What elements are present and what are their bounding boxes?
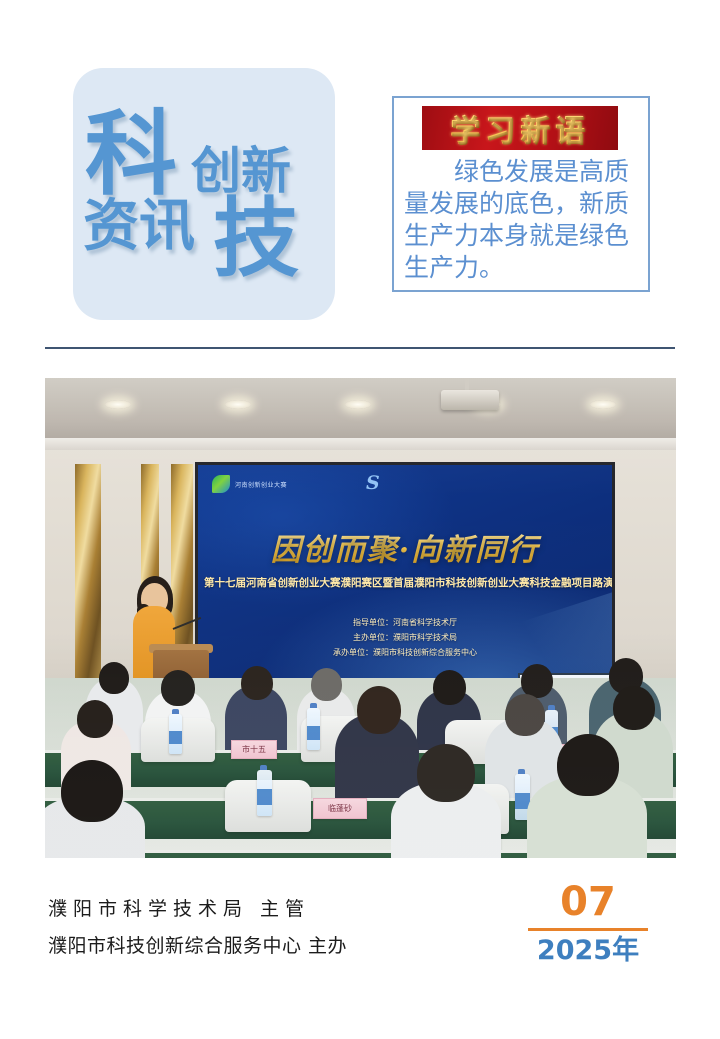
screen-org-organizer: 承办单位：濮阳市科技创新综合服务中心 — [198, 645, 612, 660]
attendee-head — [557, 734, 619, 796]
attendee-head — [613, 686, 655, 730]
attendee-head — [77, 700, 113, 738]
ceiling-light — [225, 400, 251, 409]
masthead-divider — [45, 347, 675, 349]
attendee-head — [241, 666, 273, 700]
attendee-head — [433, 670, 466, 705]
logo-glyph-zixun: 资讯 — [83, 198, 195, 254]
attendee-head — [505, 694, 545, 736]
logo-artwork: 科 创新 资讯 技 — [73, 68, 335, 320]
screen-title: 因创而聚·向新同行 — [198, 525, 612, 569]
ceiling-light — [590, 400, 616, 409]
screen-org-host: 主办单位：濮阳市科学技术局 — [198, 630, 612, 645]
issue-year: 2025年 — [528, 935, 648, 967]
attendee-head — [161, 670, 195, 706]
quote-text: 绿色发展是高质量发展的底色，新质生产力本身就是绿色生产力。 — [404, 156, 640, 284]
footer: 濮阳市科学技术局 主管 濮阳市科技创新综合服务中心 主办 07 2025年 — [0, 880, 720, 1000]
issue-number: 07 — [528, 880, 648, 924]
quote-banner: 学习新语 — [422, 106, 618, 150]
attendee-head — [61, 760, 123, 822]
ceiling-light — [105, 400, 131, 409]
screen-subtitle: 第十七届河南省创新创业大赛濮阳赛区暨首届濮阳市科技创新创业大赛科技金融项目路演活… — [204, 575, 606, 590]
water-bottle — [307, 708, 320, 750]
water-bottle — [257, 770, 272, 816]
attendee-head — [357, 686, 401, 734]
footer-credits: 濮阳市科学技术局 主管 濮阳市科技创新综合服务中心 主办 — [48, 894, 347, 958]
screen-logo-text: 河南创新创业大赛 — [235, 480, 287, 489]
magazine-cover-page: 科 创新 资讯 技 学习新语 绿色发展是高质量发展的底色，新质生产力本身就是绿色… — [0, 0, 720, 1039]
table-name-card: 市十五 — [231, 740, 277, 759]
ceiling-projector — [441, 390, 499, 410]
logo-glyph-ke: 科 — [85, 108, 175, 200]
quote-box: 学习新语 绿色发展是高质量发展的底色，新质生产力本身就是绿色生产力。 — [392, 96, 650, 292]
footer-organizer: 濮阳市科技创新综合服务中心 主办 — [48, 931, 347, 958]
attendee-head — [99, 662, 129, 694]
decorative-column — [75, 464, 101, 714]
screen-organizers: 指导单位：河南省科学技术厅 主办单位：濮阳市科学技术局 承办单位：濮阳市科技创新… — [198, 615, 612, 660]
issue-divider — [528, 928, 648, 931]
cover-photo: 河南创新创业大赛 S 因创而聚·向新同行 第十七届河南省创新创业大赛濮阳赛区暨首… — [45, 378, 676, 858]
issue-block: 07 2025年 — [528, 880, 648, 967]
screen-org-guide: 指导单位：河南省科学技术厅 — [198, 615, 612, 630]
masthead: 科 创新 资讯 技 学习新语 绿色发展是高质量发展的底色，新质生产力本身就是绿色… — [0, 0, 720, 348]
attendee-head — [521, 664, 553, 698]
leaf-icon — [212, 475, 230, 493]
attendee-head — [311, 668, 342, 701]
table-name-card: 临蓬砂 — [313, 798, 367, 819]
water-bottle — [169, 714, 182, 754]
screen-event-logo: 河南创新创业大赛 — [212, 473, 342, 495]
screen-secondary-mark: S — [366, 472, 380, 494]
footer-supervisor: 濮阳市科学技术局 主管 — [48, 894, 347, 921]
ceiling-light — [345, 400, 371, 409]
quote-banner-label: 学习新语 — [450, 106, 590, 150]
attendee-head — [417, 744, 475, 802]
logo-glyph-ji: 技 — [213, 196, 299, 282]
publication-logo-panel: 科 创新 资讯 技 — [73, 68, 335, 320]
